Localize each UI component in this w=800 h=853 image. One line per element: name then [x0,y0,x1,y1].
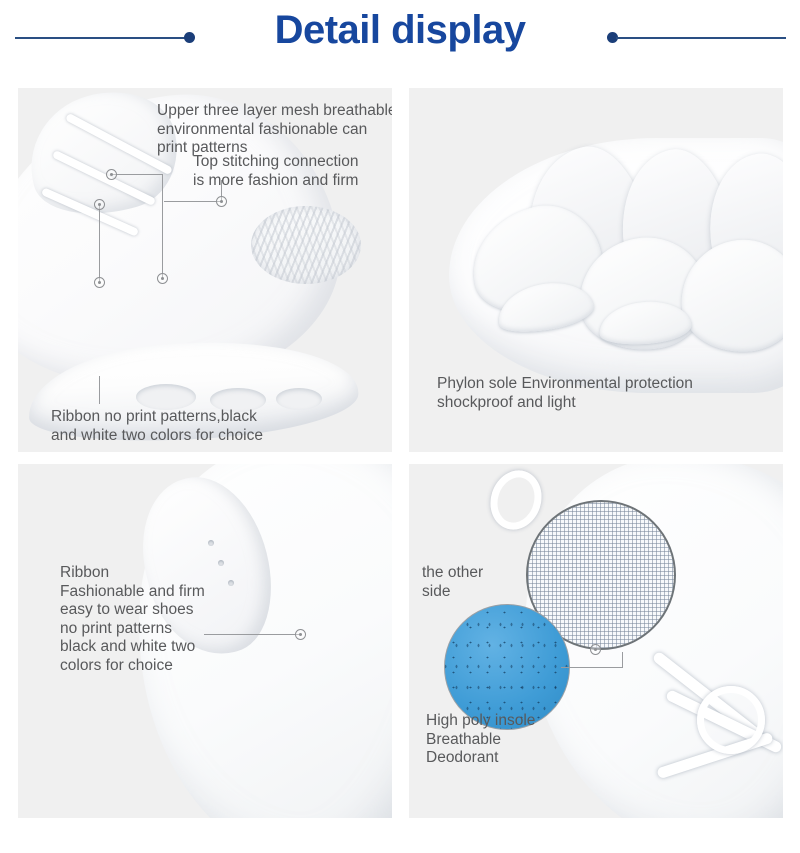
callout-marker[interactable] [106,169,117,180]
callout-marker[interactable] [94,199,105,210]
panel-ribbon-detail[interactable]: Ribbon Fashionable and firm easy to wear… [18,464,392,818]
header-rule-right [616,37,786,39]
callout-marker[interactable] [590,644,601,655]
leader-line [99,376,100,404]
callout-top-stitching: Top stitching connection is more fashion… [193,153,392,190]
leader-line [164,201,222,202]
page-header: Detail display [0,0,800,82]
callout-ribbon-detail: Ribbon Fashionable and firm easy to wear… [60,564,260,675]
leader-line [99,204,100,282]
callout-marker[interactable] [157,273,168,284]
leader-line [111,174,163,175]
midsole-cutout [276,388,322,410]
callout-upper-mesh: Upper three layer mesh breathable enviro… [157,102,392,158]
page-title: Detail display [0,8,800,53]
callout-marker[interactable] [216,196,227,207]
leader-line [162,174,163,278]
stitching-magnifier-bubble [251,206,361,284]
leader-line [561,667,623,668]
insole-speckle-texture [445,605,569,729]
callout-marker[interactable] [94,277,105,288]
midsole-cutout [136,384,196,410]
callout-marker[interactable] [295,629,306,640]
panel-upper-detail[interactable]: Upper three layer mesh breathable enviro… [18,88,392,452]
leader-line [622,652,623,668]
callout-phylon-sole: Phylon sole Environmental protection sho… [437,375,767,412]
stitch-texture [251,206,361,284]
callout-other-side: the other side [422,564,532,601]
lace-eyelet [208,540,214,546]
callout-ribbon: Ribbon no print patterns,black and white… [51,408,341,445]
panel-insole-detail[interactable]: the other side High poly insole Breathab… [409,464,783,818]
lace-loop [697,686,765,754]
panel-phylon-sole[interactable]: Phylon sole Environmental protection sho… [409,88,783,452]
callout-high-poly-insole: High poly insole Breathable Deodorant [426,712,626,768]
